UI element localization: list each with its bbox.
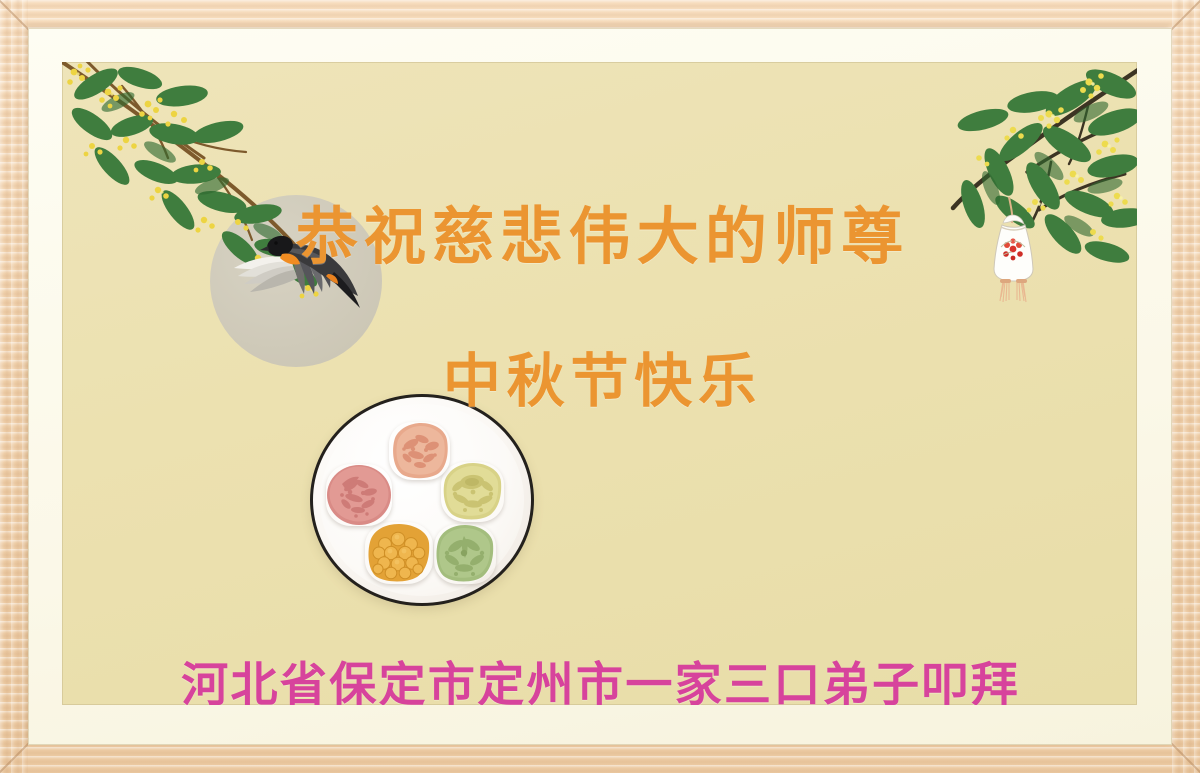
greeting-text-block: 恭祝慈悲伟大的师尊 中秋节快乐 河北省保定市定州市一家三口弟子叩拜	[62, 62, 1137, 705]
greeting-signature: 河北省保定市定州市一家三口弟子叩拜	[62, 646, 1137, 705]
greeting-card-app: 恭祝慈悲伟大的师尊 中秋节快乐 河北省保定市定州市一家三口弟子叩拜	[0, 0, 1200, 773]
greeting-card: 恭祝慈悲伟大的师尊 中秋节快乐 河北省保定市定州市一家三口弟子叩拜	[62, 62, 1137, 705]
greeting-title-line-1: 恭祝慈悲伟大的师尊	[62, 186, 1137, 276]
frame-rail-left	[0, 0, 28, 773]
frame-rail-right	[1172, 0, 1200, 773]
greeting-title-line-2: 中秋节快乐	[62, 334, 1137, 418]
